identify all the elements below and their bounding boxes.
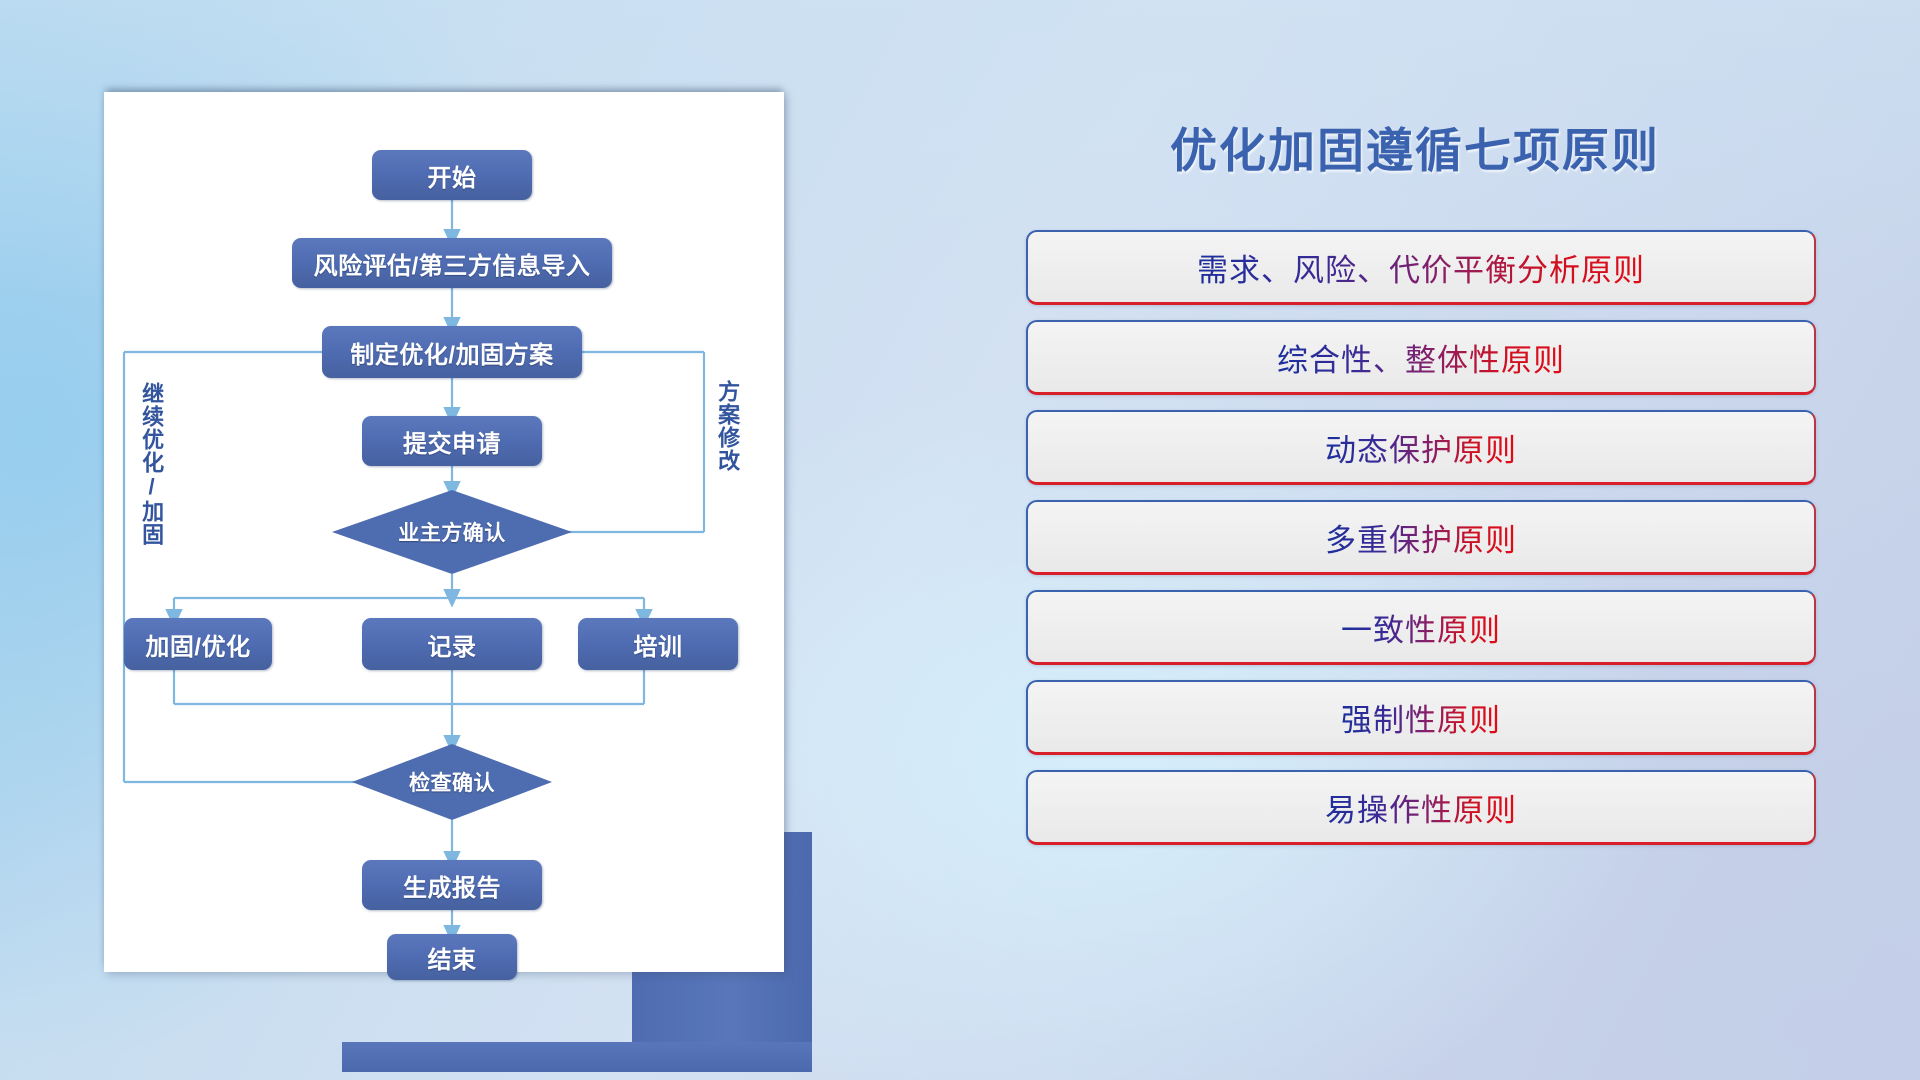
flowchart-card: 开始 风险评估/第三方信息导入 制定优化/加固方案 提交申请 业主方确认 加固/…: [104, 92, 784, 972]
flow-node-label: 风险评估/第三方信息导入: [314, 246, 591, 281]
flow-node-label: 检查确认: [409, 767, 495, 797]
flow-node-label: 结束: [428, 940, 477, 975]
flow-edge-label-continue-optimize: 继续优化/加固: [140, 382, 163, 546]
principle-item[interactable]: 一致性原则: [1026, 590, 1816, 665]
flowchart-panel: 开始 风险评估/第三方信息导入 制定优化/加固方案 提交申请 业主方确认 加固/…: [104, 92, 784, 972]
principle-label: 动态保护原则: [1325, 425, 1517, 470]
flow-node-risk-assessment[interactable]: 风险评估/第三方信息导入: [292, 238, 612, 288]
principle-list: 需求、风险、代价平衡分析原则 综合性、整体性原则 动态保护原则 多重保护原则 一…: [1026, 230, 1816, 860]
page-title: 优化加固遵循七项原则: [1010, 112, 1820, 181]
flow-node-label: 生成报告: [403, 868, 501, 903]
flow-node-submit-application[interactable]: 提交申请: [362, 416, 542, 466]
flow-node-start[interactable]: 开始: [372, 150, 532, 200]
principle-item[interactable]: 需求、风险、代价平衡分析原则: [1026, 230, 1816, 305]
flow-node-plan[interactable]: 制定优化/加固方案: [322, 326, 582, 378]
flow-node-generate-report[interactable]: 生成报告: [362, 860, 542, 910]
flow-node-record[interactable]: 记录: [362, 618, 542, 670]
flow-node-owner-confirm[interactable]: 业主方确认: [332, 490, 572, 574]
principles-panel: 优化加固遵循七项原则 需求、风险、代价平衡分析原则 综合性、整体性原则 动态保护…: [1010, 92, 1820, 1022]
principle-label: 强制性原则: [1341, 695, 1501, 740]
principle-label: 易操作性原则: [1325, 785, 1517, 830]
flow-node-end[interactable]: 结束: [387, 934, 517, 980]
flow-node-label: 开始: [428, 158, 477, 193]
flow-node-reinforce-optimize[interactable]: 加固/优化: [124, 618, 272, 670]
principle-label: 一致性原则: [1341, 605, 1501, 650]
flow-node-label: 提交申请: [403, 424, 501, 459]
principle-item[interactable]: 强制性原则: [1026, 680, 1816, 755]
flow-node-label: 记录: [428, 627, 477, 662]
principle-item[interactable]: 动态保护原则: [1026, 410, 1816, 485]
flow-node-label: 制定优化/加固方案: [350, 335, 553, 370]
flow-node-label: 培训: [634, 627, 683, 662]
flow-node-label: 业主方确认: [398, 517, 506, 547]
flow-edge-label-plan-revision: 方案修改: [716, 380, 739, 472]
flow-node-label: 加固/优化: [145, 627, 250, 662]
card-accent-block-horizontal: [342, 1042, 812, 1072]
flow-node-training[interactable]: 培训: [578, 618, 738, 670]
principle-item[interactable]: 易操作性原则: [1026, 770, 1816, 845]
principle-label: 需求、风险、代价平衡分析原则: [1197, 245, 1645, 290]
principle-item[interactable]: 多重保护原则: [1026, 500, 1816, 575]
principle-label: 综合性、整体性原则: [1277, 335, 1565, 380]
principle-label: 多重保护原则: [1325, 515, 1517, 560]
principle-item[interactable]: 综合性、整体性原则: [1026, 320, 1816, 395]
flow-node-check-confirm[interactable]: 检查确认: [352, 744, 552, 820]
